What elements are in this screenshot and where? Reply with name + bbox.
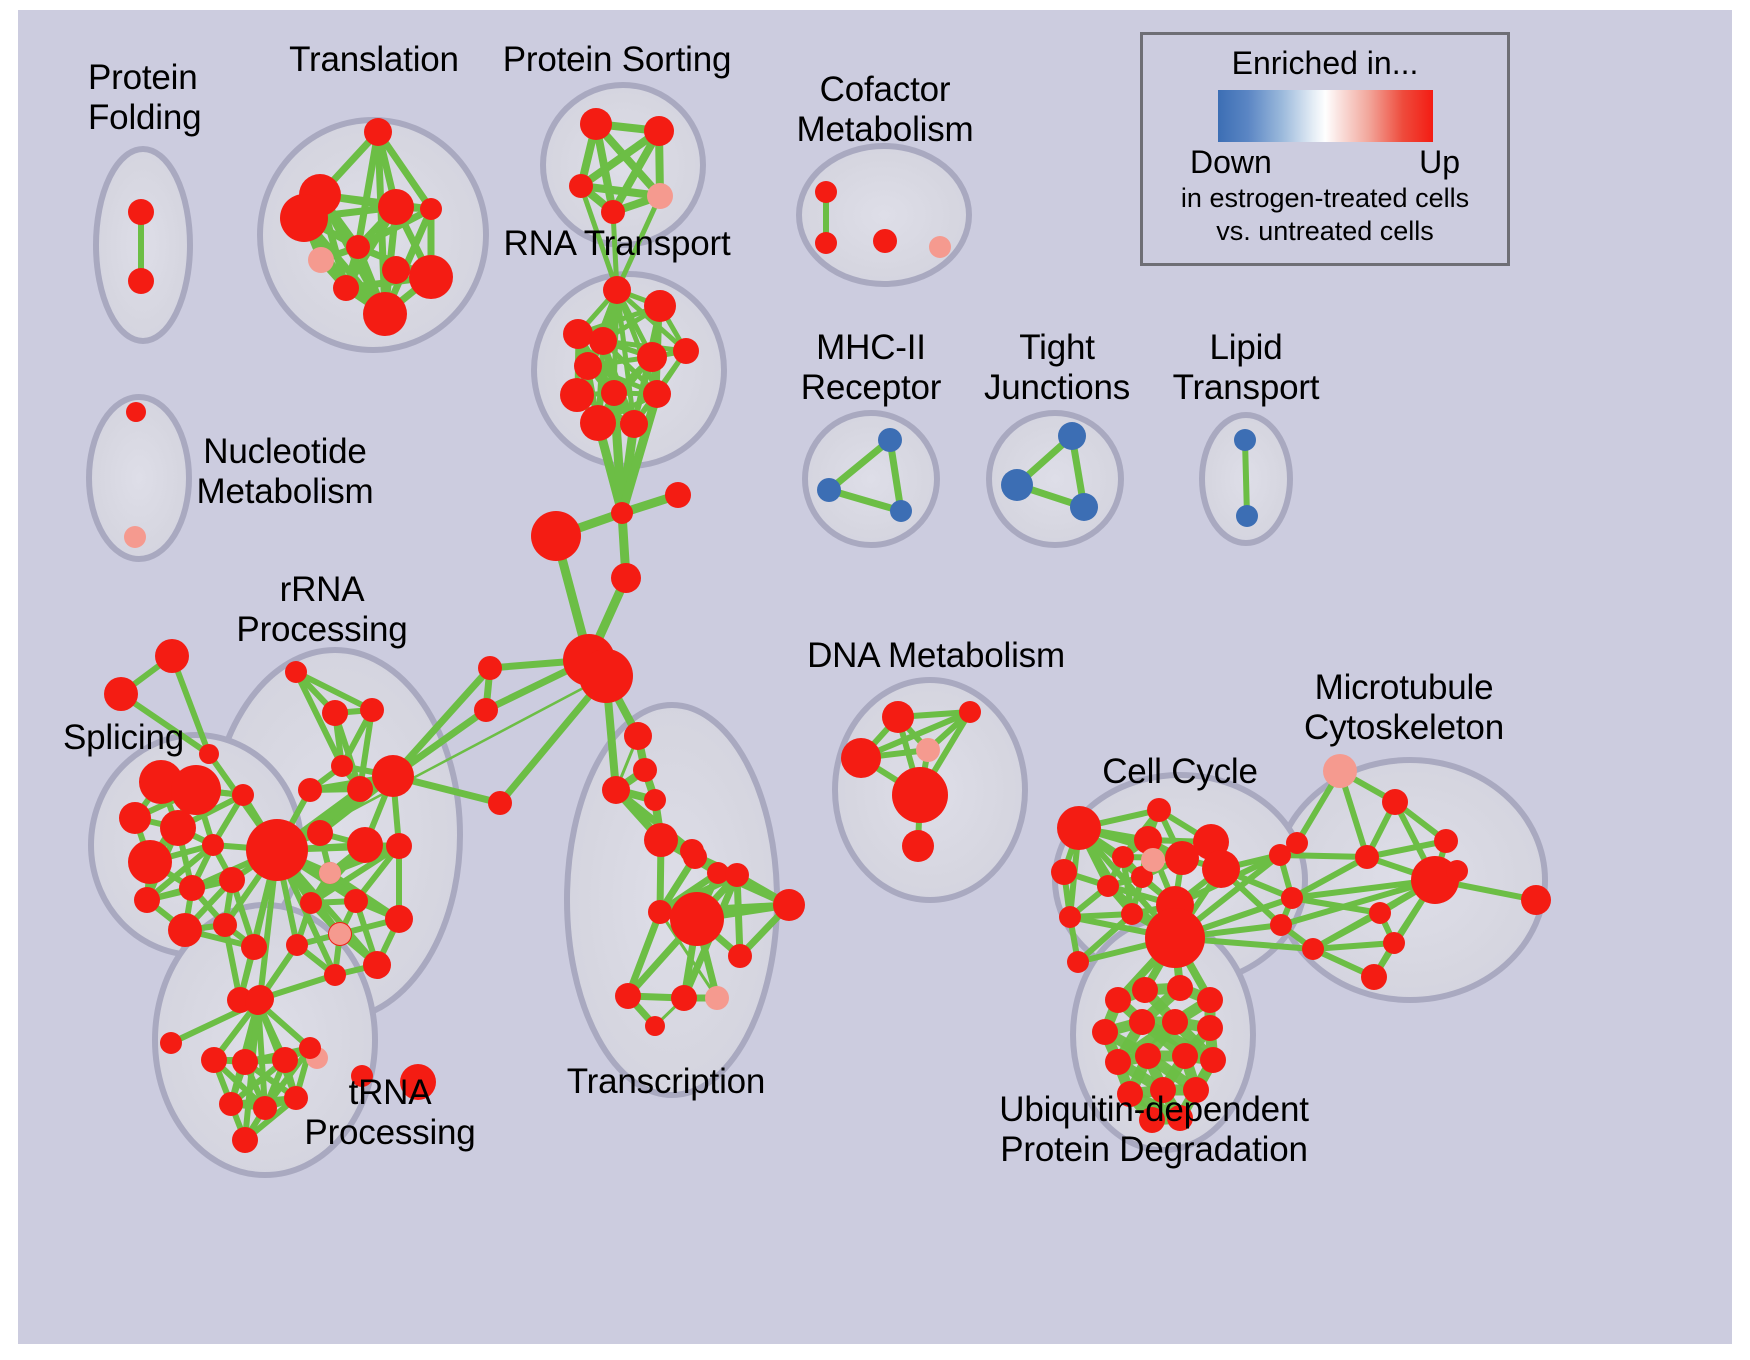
- gene-set-node[interactable]: [285, 661, 307, 683]
- gene-set-node[interactable]: [344, 889, 368, 913]
- gene-set-node[interactable]: [171, 765, 221, 815]
- gene-set-node[interactable]: [363, 292, 407, 336]
- gene-set-node[interactable]: [602, 776, 630, 804]
- gene-set-node[interactable]: [563, 319, 593, 349]
- gene-set-node[interactable]: [665, 482, 691, 508]
- gene-set-node[interactable]: [134, 887, 160, 913]
- gene-set-node[interactable]: [1281, 887, 1303, 909]
- gene-set-node[interactable]: [615, 983, 641, 1009]
- gene-set-node[interactable]: [873, 229, 897, 253]
- gene-set-node[interactable]: [644, 823, 678, 857]
- gene-set-node[interactable]: [1058, 422, 1086, 450]
- gene-set-node[interactable]: [1147, 798, 1171, 822]
- gene-set-node[interactable]: [378, 189, 414, 225]
- gene-set-node[interactable]: [253, 1096, 277, 1120]
- gene-set-node[interactable]: [346, 235, 370, 259]
- gene-set-node[interactable]: [219, 867, 245, 893]
- gene-set-node[interactable]: [637, 342, 667, 372]
- gene-set-node[interactable]: [1369, 902, 1391, 924]
- color-legend: Enriched in... Down Up in estrogen-treat…: [1140, 32, 1510, 266]
- gene-set-node[interactable]: [420, 198, 442, 220]
- gene-set-node[interactable]: [324, 964, 346, 986]
- gene-set-node[interactable]: [531, 511, 581, 561]
- gene-set-node[interactable]: [280, 194, 328, 242]
- gene-set-node[interactable]: [670, 892, 724, 946]
- gene-set-node[interactable]: [347, 827, 383, 863]
- gene-set-node[interactable]: [648, 900, 672, 924]
- gene-set-node[interactable]: [580, 405, 616, 441]
- gene-set-node[interactable]: [705, 986, 729, 1010]
- gene-set-node[interactable]: [1059, 906, 1081, 928]
- gene-set-node[interactable]: [1197, 987, 1223, 1013]
- cluster-ellipse-protein-sorting[interactable]: [543, 85, 703, 245]
- gene-set-node[interactable]: [633, 758, 657, 782]
- cluster-label-cell-cycle: Cell Cycle: [1102, 752, 1258, 792]
- gene-set-node[interactable]: [1446, 860, 1468, 882]
- gene-set-node[interactable]: [232, 784, 254, 806]
- gene-set-node[interactable]: [611, 563, 641, 593]
- legend-title: Enriched in...: [1143, 45, 1507, 82]
- gene-set-node[interactable]: [119, 802, 151, 834]
- gene-set-node[interactable]: [360, 698, 384, 722]
- gene-set-node[interactable]: [601, 380, 627, 406]
- gene-set-node[interactable]: [1112, 846, 1134, 868]
- gene-set-node[interactable]: [841, 738, 881, 778]
- cluster-ellipse-microtubule[interactable]: [1275, 760, 1545, 1000]
- legend-high-label: Up: [1419, 144, 1460, 181]
- gene-set-node[interactable]: [364, 118, 392, 146]
- legend-caption-line1: in estrogen-treated cells: [1143, 183, 1507, 214]
- gene-set-node[interactable]: [603, 276, 631, 304]
- enrichment-map-figure: Protein Folding Translation Protein Sort…: [0, 0, 1750, 1360]
- gene-set-node[interactable]: [1135, 1043, 1161, 1069]
- gene-set-node[interactable]: [644, 290, 676, 322]
- gene-set-node[interactable]: [574, 352, 602, 380]
- gene-set-node[interactable]: [331, 755, 353, 777]
- gene-set-node[interactable]: [673, 338, 699, 364]
- gene-set-node[interactable]: [916, 738, 940, 762]
- gene-set-node[interactable]: [386, 833, 412, 859]
- gene-set-node[interactable]: [1132, 977, 1158, 1003]
- gene-set-node[interactable]: [611, 502, 633, 524]
- gene-set-node[interactable]: [1355, 845, 1379, 869]
- gene-set-node[interactable]: [620, 410, 648, 438]
- gene-set-node[interactable]: [1434, 829, 1458, 853]
- gene-set-node[interactable]: [959, 701, 981, 723]
- gene-set-node[interactable]: [246, 819, 308, 881]
- gene-set-node[interactable]: [728, 944, 752, 968]
- gene-set-node[interactable]: [1382, 789, 1408, 815]
- gene-set-node[interactable]: [671, 985, 697, 1011]
- gene-set-node[interactable]: [363, 951, 391, 979]
- gene-set-node[interactable]: [1067, 951, 1089, 973]
- gene-set-node[interactable]: [179, 875, 205, 901]
- gene-set-node[interactable]: [1323, 754, 1357, 788]
- gene-set-node[interactable]: [560, 378, 594, 412]
- gene-set-node[interactable]: [1057, 806, 1101, 850]
- gene-set-node[interactable]: [329, 923, 351, 945]
- gene-set-node[interactable]: [126, 402, 146, 422]
- gene-set-node[interactable]: [1097, 875, 1119, 897]
- gene-set-node[interactable]: [219, 1092, 243, 1116]
- gene-set-node[interactable]: [300, 892, 322, 914]
- gene-set-node[interactable]: [1197, 1015, 1223, 1041]
- cluster-label-transcription: Transcription: [567, 1062, 765, 1102]
- gene-set-node[interactable]: [124, 526, 146, 548]
- gene-set-node[interactable]: [643, 380, 671, 408]
- gene-set-node[interactable]: [1105, 1049, 1131, 1075]
- gene-set-node[interactable]: [1129, 1009, 1155, 1035]
- legend-color-gradient: [1218, 90, 1433, 142]
- gene-set-node[interactable]: [1270, 914, 1292, 936]
- gene-set-node[interactable]: [322, 700, 348, 726]
- gene-set-node[interactable]: [319, 862, 341, 884]
- gene-set-node[interactable]: [644, 116, 674, 146]
- gene-set-node[interactable]: [1361, 964, 1387, 990]
- gene-set-node[interactable]: [1202, 850, 1240, 888]
- gene-set-node[interactable]: [644, 789, 666, 811]
- gene-set-node[interactable]: [1236, 505, 1258, 527]
- gene-set-node[interactable]: [1167, 975, 1193, 1001]
- legend-low-label: Down: [1190, 144, 1272, 181]
- gene-set-node[interactable]: [817, 478, 841, 502]
- gene-set-node[interactable]: [929, 236, 951, 258]
- cluster-label-dna-metabolism: DNA Metabolism: [807, 636, 1065, 676]
- gene-set-node[interactable]: [882, 701, 914, 733]
- gene-set-node[interactable]: [601, 200, 625, 224]
- gene-set-node[interactable]: [333, 275, 359, 301]
- cluster-label-lipid-transport: Lipid Transport: [1173, 328, 1320, 408]
- cluster-label-rna-transport: RNA Transport: [504, 224, 731, 264]
- cluster-label-mhc-ii-receptor: MHC-II Receptor: [801, 328, 941, 408]
- gene-set-node[interactable]: [1141, 848, 1165, 872]
- gene-set-node[interactable]: [569, 174, 593, 198]
- gene-set-node[interactable]: [347, 776, 373, 802]
- gene-set-node[interactable]: [645, 1016, 665, 1036]
- cluster-label-nucleotide-metabolism: Nucleotide Metabolism: [197, 432, 374, 512]
- gene-set-node[interactable]: [1051, 859, 1077, 885]
- gene-set-node[interactable]: [372, 755, 414, 797]
- gene-set-node[interactable]: [1200, 1047, 1226, 1073]
- gene-set-node[interactable]: [307, 820, 333, 846]
- gene-set-node[interactable]: [773, 889, 805, 921]
- cluster-label-protein-sorting: Protein Sorting: [503, 40, 732, 80]
- gene-set-node[interactable]: [1121, 903, 1143, 925]
- gene-set-node[interactable]: [213, 913, 237, 937]
- gene-set-node[interactable]: [299, 1037, 321, 1059]
- gene-set-node[interactable]: [104, 677, 138, 711]
- gene-set-node[interactable]: [201, 1047, 227, 1073]
- gene-set-node[interactable]: [232, 1127, 258, 1153]
- gene-set-node[interactable]: [1383, 932, 1405, 954]
- gene-set-node[interactable]: [1105, 987, 1131, 1013]
- gene-set-node[interactable]: [286, 934, 308, 956]
- gene-set-node[interactable]: [298, 778, 322, 802]
- gene-set-node[interactable]: [1145, 908, 1205, 968]
- cluster-label-rrna-processing: rRNA Processing: [236, 570, 407, 650]
- cluster-label-trna-processing: tRNA Processing: [304, 1073, 475, 1153]
- gene-set-node[interactable]: [1286, 832, 1308, 854]
- legend-endpoints: Down Up: [1190, 144, 1460, 181]
- gene-set-node[interactable]: [1172, 1043, 1198, 1069]
- gene-set-node[interactable]: [1234, 429, 1256, 451]
- gene-set-node[interactable]: [815, 181, 837, 203]
- gene-set-node[interactable]: [1092, 1019, 1118, 1045]
- gene-set-node[interactable]: [488, 791, 512, 815]
- gene-set-node[interactable]: [892, 767, 948, 823]
- cluster-label-ubiquitin-degradation: Ubiquitin-dependent Protein Degradation: [999, 1090, 1309, 1170]
- cluster-label-cofactor-metabolism: Cofactor Metabolism: [797, 70, 974, 150]
- gene-set-node[interactable]: [160, 1032, 182, 1054]
- gene-set-node[interactable]: [1001, 469, 1033, 501]
- gene-set-node[interactable]: [128, 199, 154, 225]
- gene-set-node[interactable]: [160, 810, 196, 846]
- gene-set-node[interactable]: [1302, 938, 1324, 960]
- gene-set-node[interactable]: [168, 913, 202, 947]
- gene-set-node[interactable]: [589, 327, 617, 355]
- gene-set-node[interactable]: [725, 863, 749, 887]
- gene-set-node[interactable]: [624, 722, 652, 750]
- cluster-label-splicing: Splicing: [63, 718, 184, 758]
- gene-set-node[interactable]: [245, 989, 271, 1015]
- cluster-label-tight-junctions: Tight Junctions: [984, 328, 1130, 408]
- gene-set-node[interactable]: [902, 830, 934, 862]
- gene-set-node[interactable]: [647, 183, 673, 209]
- gene-set-node[interactable]: [1070, 493, 1098, 521]
- gene-set-node[interactable]: [385, 905, 413, 933]
- gene-set-node[interactable]: [382, 256, 410, 284]
- gene-set-node[interactable]: [580, 108, 612, 140]
- gene-set-node[interactable]: [815, 232, 837, 254]
- gene-set-node[interactable]: [241, 934, 267, 960]
- cluster-label-protein-folding: Protein Folding: [88, 58, 201, 138]
- gene-set-node[interactable]: [308, 247, 334, 273]
- gene-set-node[interactable]: [128, 268, 154, 294]
- gene-set-node[interactable]: [409, 255, 453, 299]
- cluster-label-translation: Translation: [289, 40, 459, 80]
- gene-set-node[interactable]: [1521, 885, 1551, 915]
- gene-set-node[interactable]: [478, 656, 502, 680]
- gene-set-node[interactable]: [890, 500, 912, 522]
- gene-set-node[interactable]: [272, 1047, 298, 1073]
- gene-set-node[interactable]: [683, 845, 707, 869]
- gene-set-node[interactable]: [232, 1049, 258, 1075]
- gene-set-node[interactable]: [474, 698, 498, 722]
- gene-set-node[interactable]: [202, 834, 224, 856]
- gene-set-node[interactable]: [878, 428, 902, 452]
- gene-set-node[interactable]: [199, 744, 219, 764]
- gene-set-node[interactable]: [155, 639, 189, 673]
- cluster-label-microtubule: Microtubule Cytoskeleton: [1304, 668, 1504, 748]
- gene-set-node[interactable]: [128, 840, 172, 884]
- gene-set-node[interactable]: [579, 649, 633, 703]
- gene-set-node[interactable]: [1162, 1009, 1188, 1035]
- legend-caption-line2: vs. untreated cells: [1143, 216, 1507, 247]
